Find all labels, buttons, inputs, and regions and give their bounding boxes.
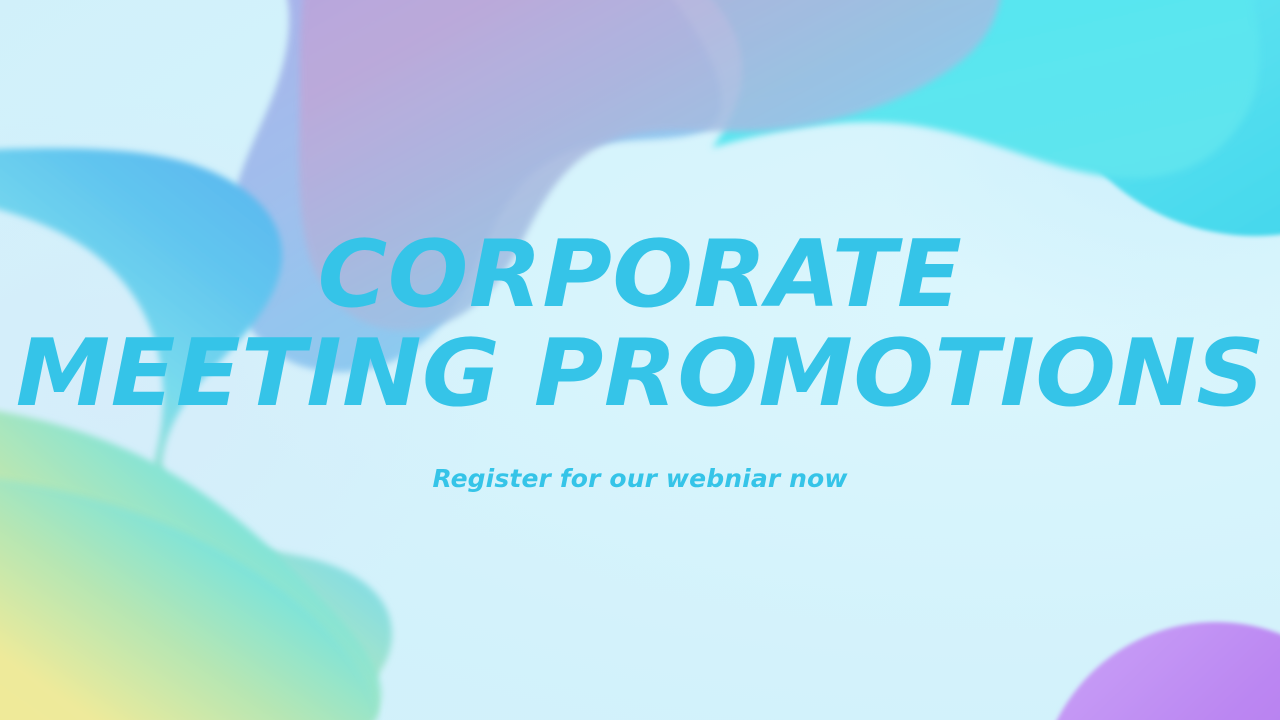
headline-line-1: CORPORATE <box>318 228 963 321</box>
promotional-poster: CORPORATE MEETING PROMOTIONS Register fo… <box>0 0 1280 720</box>
subtitle-call-to-action: Register for our webniar now <box>432 464 847 493</box>
poster-content: CORPORATE MEETING PROMOTIONS Register fo… <box>0 0 1280 720</box>
headline-line-2: MEETING PROMOTIONS <box>15 327 1264 420</box>
